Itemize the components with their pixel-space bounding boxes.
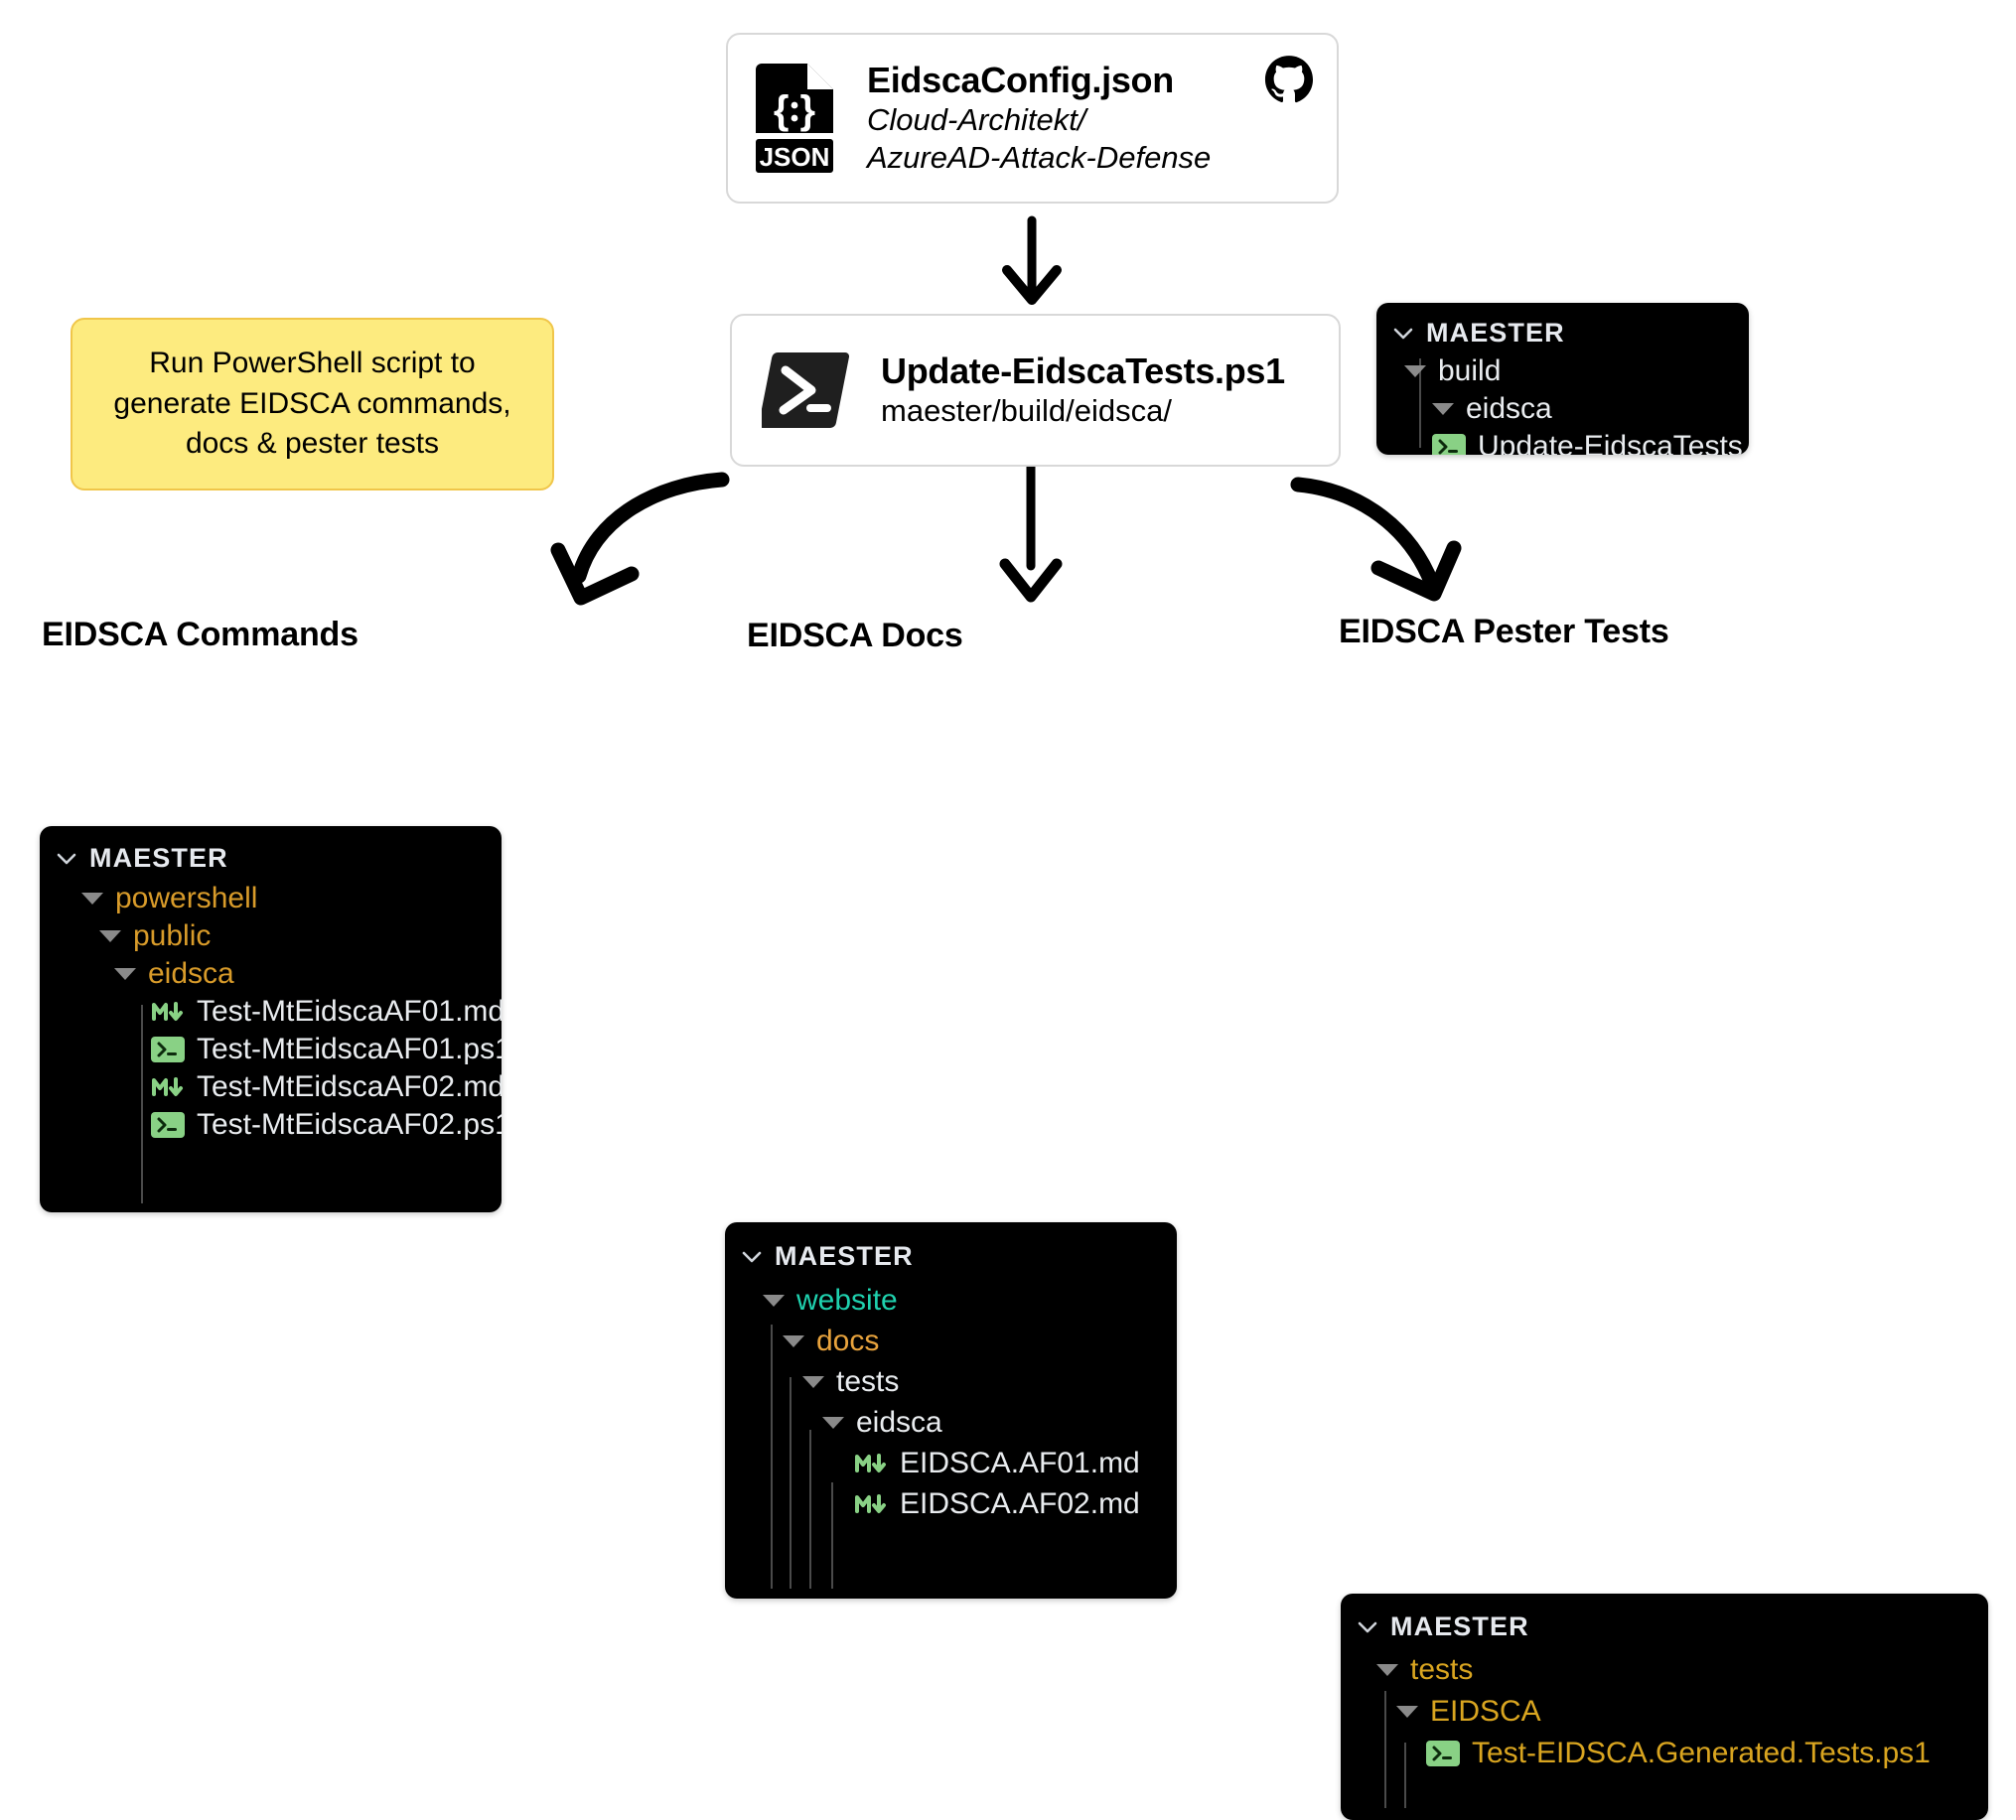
powershell-file-icon (151, 1037, 185, 1062)
triangle-down-icon (1404, 365, 1426, 377)
tree-item-label: public (133, 919, 211, 953)
instruction-note-text: Run PowerShell script to generate EIDSCA… (90, 344, 534, 465)
json-icon-label: JSON (760, 142, 830, 172)
section-heading-commands: EIDSCA Commands (42, 616, 359, 654)
section-heading-pester: EIDSCA Pester Tests (1339, 613, 1669, 651)
tree-root-label: MAESTER (89, 843, 228, 874)
tree-item-label: Test-MtEidscaAF02.ps1 (197, 1108, 502, 1142)
tree-row[interactable]: eidsca (40, 955, 502, 993)
powershell-file-icon (1432, 434, 1466, 455)
triangle-down-icon (114, 968, 136, 980)
powershell-file-icon (1426, 1741, 1460, 1766)
tree-row[interactable]: Test-MtEidscaAF01.ps1 (40, 1031, 502, 1068)
tree-row[interactable]: Test-MtEidscaAF02.ps1 (40, 1106, 502, 1144)
powershell-file-icon (151, 1112, 185, 1138)
tree-row[interactable]: eidsca (725, 1402, 1177, 1443)
tree-row[interactable]: website (725, 1280, 1177, 1321)
panel-build-tree[interactable]: MAESTER build eidsca Update-EidscaTests.… (1376, 303, 1749, 455)
tree-row[interactable]: Test-MtEidscaAF01.md (40, 993, 502, 1031)
tree-row[interactable]: build (1376, 352, 1749, 390)
panel-commands-tree[interactable]: MAESTER powershell public eidsca Test-Mt… (40, 826, 502, 1212)
tree-root-label: MAESTER (1426, 318, 1565, 349)
github-icon[interactable] (1263, 55, 1315, 106)
powershell-icon (762, 347, 849, 434)
svg-text:{ }: { } (774, 88, 815, 132)
tree-item-label: eidsca (148, 957, 234, 991)
triangle-down-icon (99, 930, 121, 942)
tree-item-label: tests (1410, 1653, 1473, 1687)
panel-docs-tree[interactable]: MAESTER website docs tests eidsca EIDSCA… (725, 1222, 1177, 1599)
tree-item-label: EIDSCA (1430, 1695, 1541, 1729)
arrow-script-to-pester (1298, 485, 1454, 594)
tree-row[interactable]: tests (725, 1361, 1177, 1402)
tree-item-label: website (796, 1284, 898, 1318)
markdown-file-icon (854, 1451, 888, 1476)
tree-item-label: eidsca (1466, 392, 1552, 426)
tree-root-label: MAESTER (775, 1241, 914, 1272)
triangle-down-icon (763, 1295, 785, 1307)
tree-row[interactable]: public (40, 917, 502, 955)
tree-item-label: EIDSCA.AF01.md (900, 1447, 1140, 1480)
triangle-down-icon (1432, 403, 1454, 415)
tree-row[interactable]: EIDSCA.AF02.md (725, 1483, 1177, 1524)
tree-row[interactable]: EIDSCA (1341, 1691, 1988, 1733)
arrow-script-to-docs (1005, 467, 1057, 597)
tree-item-label: tests (836, 1365, 899, 1399)
arrow-script-to-commands (558, 480, 722, 598)
markdown-file-icon (151, 1074, 185, 1100)
tree-row[interactable]: Update-EidscaTests.ps1 (1376, 428, 1749, 455)
chevron-down-icon (739, 1243, 765, 1269)
tree-item-label: Update-EidscaTests.ps1 (1478, 430, 1749, 455)
tree-row[interactable]: docs (725, 1321, 1177, 1361)
tree-row[interactable]: EIDSCA.AF01.md (725, 1443, 1177, 1483)
tree-root-maester[interactable]: MAESTER (1376, 313, 1749, 352)
source-config-card[interactable]: { } JSON EidscaConfig.json Cloud-Archite… (726, 33, 1339, 204)
source-card-subtitle-line1: Cloud-Architekt/ (867, 101, 1211, 139)
script-card-title: Update-EidscaTests.ps1 (881, 350, 1285, 392)
tree-item-label: Test-MtEidscaAF02.md (197, 1070, 502, 1104)
tree-item-label: Test-MtEidscaAF01.ps1 (197, 1033, 502, 1066)
tree-root-label: MAESTER (1390, 1611, 1529, 1642)
tree-row[interactable]: tests (1341, 1649, 1988, 1691)
markdown-file-icon (854, 1491, 888, 1517)
tree-row[interactable]: Test-MtEidscaAF02.md (40, 1068, 502, 1106)
tree-item-label: EIDSCA.AF02.md (900, 1487, 1140, 1521)
triangle-down-icon (81, 893, 103, 905)
source-card-subtitle-line2: AzureAD-Attack-Defense (867, 139, 1211, 177)
tree-item-label: build (1438, 354, 1501, 388)
tree-root-maester[interactable]: MAESTER (40, 836, 502, 880)
instruction-note: Run PowerShell script to generate EIDSCA… (71, 318, 554, 490)
tree-row[interactable]: Test-EIDSCA.Generated.Tests.ps1 (1341, 1733, 1988, 1774)
tree-item-label: Test-EIDSCA.Generated.Tests.ps1 (1472, 1737, 1931, 1770)
source-card-title: EidscaConfig.json (867, 60, 1211, 101)
chevron-down-icon (1355, 1613, 1380, 1639)
chevron-down-icon (54, 845, 79, 871)
section-heading-docs: EIDSCA Docs (747, 617, 963, 655)
tree-root-maester[interactable]: MAESTER (1341, 1604, 1988, 1649)
tree-item-label: docs (816, 1325, 879, 1358)
triangle-down-icon (1396, 1706, 1418, 1718)
panel-pester-tree[interactable]: MAESTER tests EIDSCA Test-EIDSCA.Generat… (1341, 1594, 1988, 1820)
triangle-down-icon (802, 1376, 824, 1388)
tree-item-label: eidsca (856, 1406, 942, 1440)
tree-row[interactable]: powershell (40, 880, 502, 917)
script-card[interactable]: Update-EidscaTests.ps1 maester/build/eid… (730, 314, 1341, 467)
tree-row[interactable]: eidsca (1376, 390, 1749, 428)
chevron-down-icon (1390, 320, 1416, 346)
triangle-down-icon (822, 1417, 844, 1429)
json-file-icon: { } JSON (752, 64, 837, 173)
script-card-subtitle: maester/build/eidsca/ (881, 392, 1285, 430)
triangle-down-icon (783, 1335, 804, 1347)
tree-item-label: powershell (115, 882, 257, 915)
tree-item-label: Test-MtEidscaAF01.md (197, 995, 502, 1029)
markdown-file-icon (151, 999, 185, 1025)
tree-root-maester[interactable]: MAESTER (725, 1232, 1177, 1280)
triangle-down-icon (1376, 1664, 1398, 1676)
arrow-source-to-script (1007, 220, 1057, 300)
